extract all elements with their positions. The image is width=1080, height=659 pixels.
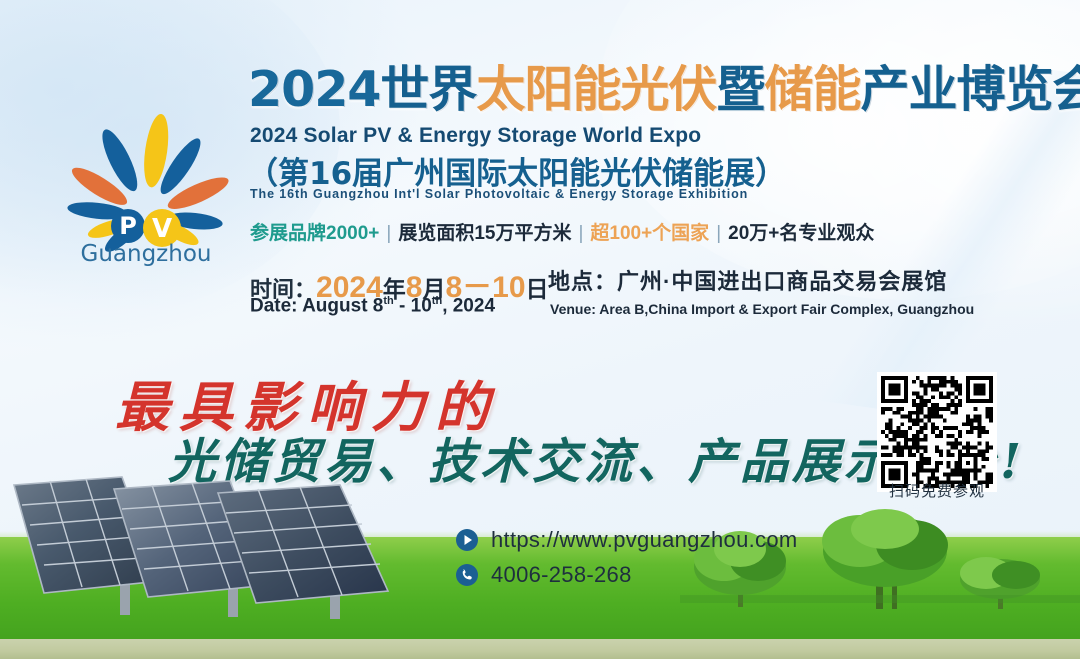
logo-letter-p: P [119, 212, 137, 240]
headline-part-1: 世界 [380, 61, 476, 118]
stat-separator: | [379, 223, 398, 244]
headline-part-3: 暨 [716, 61, 764, 118]
headline-part-0: 2024 [248, 61, 380, 118]
expo-headline: 2024世界太阳能光伏暨储能产业博览会 [248, 60, 1048, 122]
date-en-suffix: , 2024 [442, 295, 495, 316]
date-english: Date: August 8th - 10th, 2024 [250, 295, 495, 317]
play-circle-icon [455, 528, 479, 552]
expo-banner: P V Guangzhou 2024世界太阳能光伏暨储能产业博览会 2024 S… [0, 0, 1080, 659]
website-url[interactable]: https://www.pvguangzhou.com [491, 527, 798, 553]
date-en-sup-first: th [383, 295, 393, 307]
date-en-sup-second: th [432, 295, 442, 307]
venue-english: Venue: Area B,China Import & Export Fair… [550, 301, 974, 317]
qr-code-canvas [881, 376, 993, 488]
headline-part-4: 储能 [764, 61, 860, 118]
solar-panel-array [0, 453, 432, 631]
logo-letter-v: V [152, 214, 172, 244]
contact-website-row[interactable]: https://www.pvguangzhou.com [455, 527, 798, 553]
stat-visitors: 20万+名专业观众 [728, 223, 874, 244]
stat-separator: | [571, 223, 590, 244]
date-en-prefix: Date: August 8 [250, 295, 383, 316]
expo-stats-strip: 参展品牌2000+|展览面积15万平方米|超100+个国家|20万+名专业观众 [250, 218, 874, 245]
tree-center [822, 509, 948, 609]
venue-chinese: 地点：广州·中国进出口商品交易会展馆 [548, 264, 947, 296]
phone-circle-icon [455, 563, 479, 587]
road-strip [0, 639, 1080, 659]
headline-part-5: 产业博览会 [860, 61, 1080, 118]
phone-number[interactable]: 4006-258-268 [491, 562, 632, 588]
qr-code[interactable] [877, 372, 997, 492]
contact-block: https://www.pvguangzhou.com 4006-258-268 [455, 527, 798, 597]
subtitle-english: 2024 Solar PV & Energy Storage World Exp… [250, 124, 701, 148]
stat-separator: | [709, 223, 728, 244]
stat-countries: 超100+个国家 [590, 223, 709, 244]
stat-brands: 参展品牌2000+ [250, 223, 379, 244]
logo-wordmark: Guangzhou [81, 241, 212, 267]
contact-phone-row[interactable]: 4006-258-268 [455, 562, 798, 588]
date-seg-day-unit: 日 [526, 276, 549, 302]
pv-guangzhou-logo[interactable]: P V Guangzhou [58, 98, 236, 270]
headline-part-2: 太阳能光伏 [476, 61, 716, 118]
subtitle-english-secondary: The 16th Guangzhou Int'l Solar Photovolt… [250, 187, 748, 201]
stat-area: 展览面积15万平方米 [398, 223, 571, 244]
date-en-mid: - 10 [394, 295, 432, 316]
